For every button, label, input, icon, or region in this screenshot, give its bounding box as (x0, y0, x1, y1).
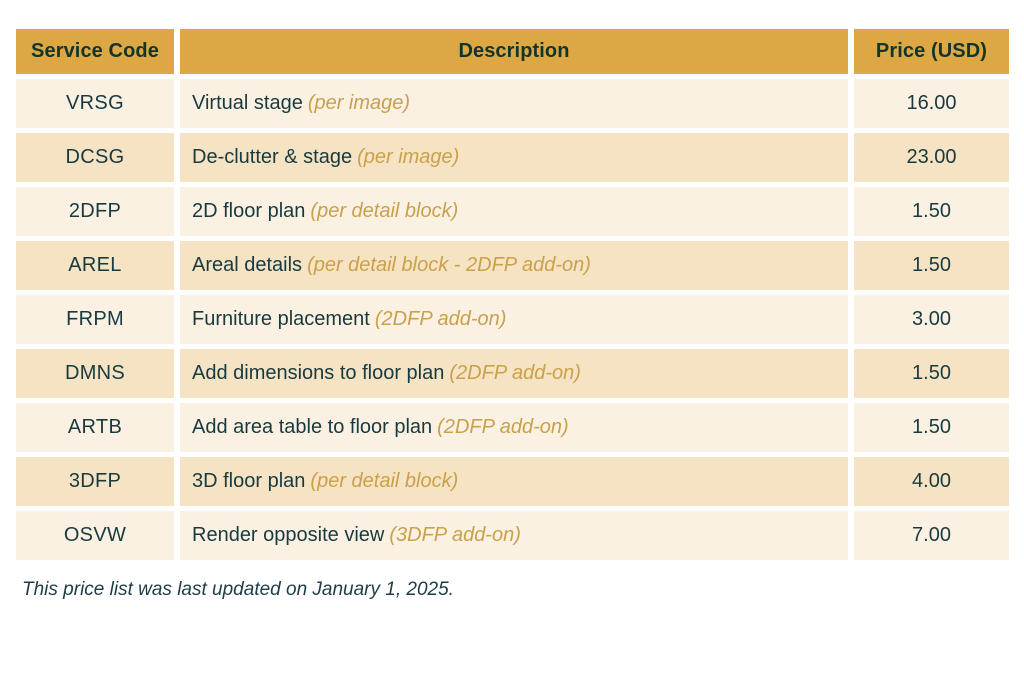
table-row: DCSGDe-clutter & stage(per image)23.00 (16, 133, 1009, 182)
cell-description: Add dimensions to floor plan(2DFP add-on… (180, 349, 848, 398)
cell-service-code: 3DFP (16, 457, 174, 506)
description-note: (per detail block) (310, 470, 458, 492)
description-main: Areal details (192, 254, 302, 276)
description-note: (3DFP add-on) (389, 524, 521, 546)
table-body: VRSGVirtual stage(per image)16.00DCSGDe-… (16, 79, 1009, 560)
description-main: De-clutter & stage (192, 146, 352, 168)
cell-description: Add area table to floor plan(2DFP add-on… (180, 403, 848, 452)
description-note: (per image) (308, 92, 410, 114)
table-row: FRPMFurniture placement(2DFP add-on)3.00 (16, 295, 1009, 344)
cell-description: Furniture placement(2DFP add-on) (180, 295, 848, 344)
cell-description: Virtual stage(per image) (180, 79, 848, 128)
table-header: Service Code Description Price (USD) (16, 29, 1009, 74)
last-updated-note: This price list was last updated on Janu… (22, 579, 1008, 601)
cell-service-code: OSVW (16, 511, 174, 560)
table-row: ARTBAdd area table to floor plan(2DFP ad… (16, 403, 1009, 452)
cell-price: 3.00 (854, 295, 1009, 344)
cell-service-code: DCSG (16, 133, 174, 182)
column-header-description: Description (180, 29, 848, 74)
table-row: 2DFP2D floor plan(per detail block)1.50 (16, 187, 1009, 236)
table-row: DMNSAdd dimensions to floor plan(2DFP ad… (16, 349, 1009, 398)
description-main: 3D floor plan (192, 470, 305, 492)
table-row: ARELAreal details(per detail block - 2DF… (16, 241, 1009, 290)
description-main: 2D floor plan (192, 200, 305, 222)
cell-service-code: 2DFP (16, 187, 174, 236)
table-row: VRSGVirtual stage(per image)16.00 (16, 79, 1009, 128)
table-header-row: Service Code Description Price (USD) (16, 29, 1009, 74)
cell-price: 16.00 (854, 79, 1009, 128)
column-header-service-code: Service Code (16, 29, 174, 74)
cell-price: 4.00 (854, 457, 1009, 506)
table-row: OSVWRender opposite view(3DFP add-on)7.0… (16, 511, 1009, 560)
description-note: (per detail block - 2DFP add-on) (307, 254, 591, 276)
description-main: Add area table to floor plan (192, 416, 432, 438)
description-note: (per image) (357, 146, 459, 168)
cell-description: De-clutter & stage(per image) (180, 133, 848, 182)
cell-service-code: ARTB (16, 403, 174, 452)
cell-description: 2D floor plan(per detail block) (180, 187, 848, 236)
description-main: Add dimensions to floor plan (192, 362, 444, 384)
cell-price: 1.50 (854, 349, 1009, 398)
description-note: (2DFP add-on) (375, 308, 507, 330)
cell-service-code: AREL (16, 241, 174, 290)
description-main: Furniture placement (192, 308, 370, 330)
cell-price: 7.00 (854, 511, 1009, 560)
cell-description: 3D floor plan(per detail block) (180, 457, 848, 506)
service-price-table: Service Code Description Price (USD) VRS… (10, 24, 1015, 565)
description-main: Virtual stage (192, 92, 303, 114)
cell-price: 1.50 (854, 241, 1009, 290)
column-header-price: Price (USD) (854, 29, 1009, 74)
description-note: (2DFP add-on) (437, 416, 569, 438)
cell-price: 1.50 (854, 403, 1009, 452)
cell-price: 23.00 (854, 133, 1009, 182)
cell-service-code: FRPM (16, 295, 174, 344)
cell-price: 1.50 (854, 187, 1009, 236)
cell-description: Render opposite view(3DFP add-on) (180, 511, 848, 560)
cell-service-code: DMNS (16, 349, 174, 398)
description-main: Render opposite view (192, 524, 384, 546)
description-note: (per detail block) (310, 200, 458, 222)
description-note: (2DFP add-on) (449, 362, 581, 384)
table-row: 3DFP3D floor plan(per detail block)4.00 (16, 457, 1009, 506)
cell-service-code: VRSG (16, 79, 174, 128)
cell-description: Areal details(per detail block - 2DFP ad… (180, 241, 848, 290)
price-list-page: Service Code Description Price (USD) VRS… (0, 0, 1024, 683)
